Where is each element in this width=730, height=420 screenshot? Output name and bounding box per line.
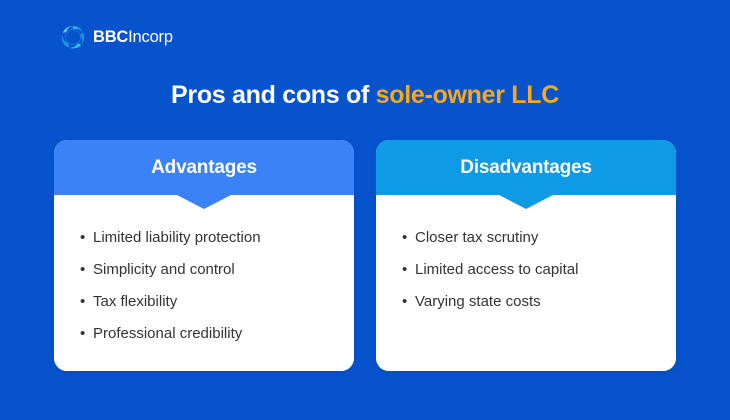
bullet-dot-icon: •	[402, 227, 415, 249]
disadvantages-card-header: Disadvantages	[376, 140, 676, 195]
list-item: • Limited liability protection	[54, 227, 354, 249]
brand-logo: BBCIncorp	[60, 22, 173, 52]
list-item-label: Simplicity and control	[93, 259, 336, 281]
disadvantages-list: • Closer tax scrutiny • Limited access t…	[376, 227, 676, 313]
bullet-dot-icon: •	[402, 291, 415, 313]
list-item-label: Limited liability protection	[93, 227, 336, 249]
infographic-canvas: BBCIncorp Pros and cons of sole-owner LL…	[0, 0, 730, 420]
comparison-cards: Advantages • Limited liability protectio…	[54, 140, 676, 371]
advantages-list: • Limited liability protection • Simplic…	[54, 227, 354, 345]
page-title-highlight: sole-owner LLC	[376, 81, 559, 109]
list-item-label: Tax flexibility	[93, 291, 336, 313]
chevron-down-notch-icon	[499, 195, 553, 209]
disadvantages-card: Disadvantages • Closer tax scrutiny • Li…	[376, 140, 676, 371]
list-item-label: Professional credibility	[93, 323, 336, 345]
list-item: • Closer tax scrutiny	[376, 227, 676, 249]
chevron-down-notch-icon	[177, 195, 231, 209]
list-item: • Professional credibility	[54, 323, 354, 345]
list-item: • Tax flexibility	[54, 291, 354, 313]
brand-name: BBCIncorp	[93, 29, 173, 46]
brand-name-bold: BBC	[93, 28, 128, 46]
list-item-label: Varying state costs	[415, 291, 658, 313]
page-title: Pros and cons of sole-owner LLC	[0, 78, 730, 112]
list-item-label: Closer tax scrutiny	[415, 227, 658, 249]
page-title-prefix: Pros and cons of	[171, 81, 376, 109]
list-item: • Simplicity and control	[54, 259, 354, 281]
bullet-dot-icon: •	[402, 259, 415, 281]
list-item: • Limited access to capital	[376, 259, 676, 281]
bullet-dot-icon: •	[80, 259, 93, 281]
disadvantages-card-body: • Closer tax scrutiny • Limited access t…	[376, 195, 676, 371]
swirl-circle-icon	[60, 24, 86, 50]
brand-name-light: Incorp	[128, 28, 173, 46]
advantages-card: Advantages • Limited liability protectio…	[54, 140, 354, 371]
bullet-dot-icon: •	[80, 323, 93, 345]
advantages-card-title: Advantages	[151, 157, 257, 179]
list-item-label: Limited access to capital	[415, 259, 658, 281]
disadvantages-card-title: Disadvantages	[460, 157, 592, 179]
bullet-dot-icon: •	[80, 227, 93, 249]
advantages-card-body: • Limited liability protection • Simplic…	[54, 195, 354, 371]
bullet-dot-icon: •	[80, 291, 93, 313]
list-item: • Varying state costs	[376, 291, 676, 313]
advantages-card-header: Advantages	[54, 140, 354, 195]
